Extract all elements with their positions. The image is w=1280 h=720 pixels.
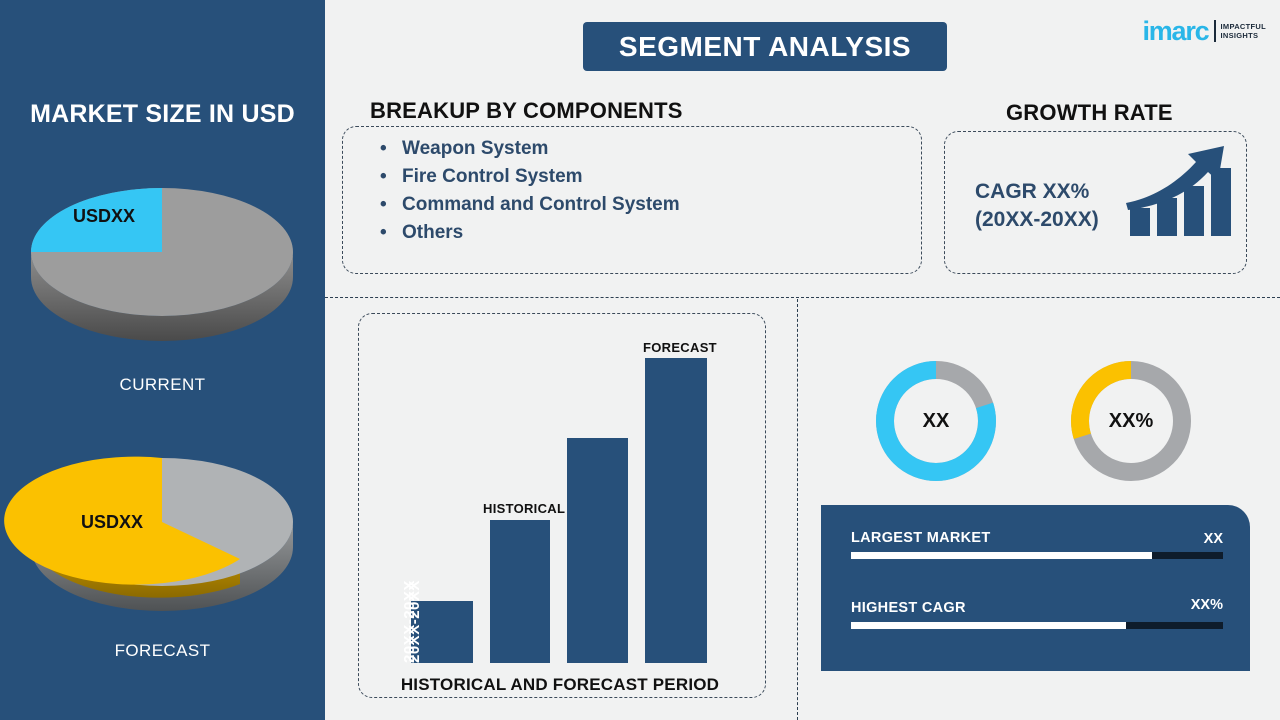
components-title: BREAKUP BY COMPONENTS (370, 98, 683, 124)
pie-forecast-value-label: USDXX (81, 512, 143, 532)
logo-tagline: IMPACTFUL INSIGHTS (1221, 22, 1266, 41)
bullet-icon: • (380, 167, 402, 186)
component-label: Weapon System (402, 138, 548, 160)
stats-panel: LARGEST MARKET XX HIGHEST CAGR XX% (821, 505, 1250, 671)
growth-rate-title: GROWTH RATE (1006, 100, 1173, 126)
pie-current-value-label: USDXX (73, 206, 135, 226)
stat-largest-market-track (851, 552, 1223, 559)
page-title-banner: SEGMENT ANALYSIS (583, 22, 947, 71)
stat-highest-cagr-fill (851, 622, 1126, 629)
logo-tagline-line2: INSIGHTS (1221, 31, 1266, 40)
cagr-text: CAGR XX% (20XX-20XX) (975, 178, 1099, 233)
list-item: • Command and Control System (380, 194, 680, 216)
components-list: • Weapon System • Fire Control System • … (380, 138, 680, 250)
list-item: • Weapon System (380, 138, 680, 160)
donut-1-center: XX (895, 380, 977, 462)
pie-chart-current: USDXX CURRENT (0, 160, 325, 395)
stat-largest-market-fill (851, 552, 1152, 559)
infographic-root: MARKET SIZE IN USD USDXX CURRENT (0, 0, 1280, 720)
bar-4-label: 20XX-20XX (379, 580, 684, 663)
stat-highest-cagr: HIGHEST CAGR XX% (851, 599, 1223, 629)
donut-1-label: XX (923, 410, 950, 433)
list-item: • Others (380, 222, 680, 244)
bullet-icon: • (380, 223, 402, 242)
pie-forecast-svg: USDXX (0, 430, 325, 630)
logo-divider (1214, 20, 1216, 42)
list-item: • Fire Control System (380, 166, 680, 188)
stat-highest-cagr-label: HIGHEST CAGR (851, 600, 966, 616)
logo-tagline-line1: IMPACTFUL (1221, 22, 1266, 31)
highest-cagr-donut: XX% (1071, 361, 1191, 481)
donut-2-label: XX% (1109, 410, 1153, 433)
stat-highest-cagr-track (851, 622, 1223, 629)
cagr-line-1: CAGR XX% (975, 178, 1099, 206)
vertical-divider (797, 299, 798, 720)
sidebar-title: MARKET SIZE IN USD (0, 100, 325, 129)
stat-largest-market-label: LARGEST MARKET (851, 530, 991, 546)
pie-current-caption: CURRENT (0, 375, 325, 395)
component-label: Others (402, 222, 463, 244)
forecast-annotation: FORECAST (643, 340, 717, 355)
historical-annotation: HISTORICAL (483, 501, 565, 516)
bullet-icon: • (380, 139, 402, 158)
component-label: Fire Control System (402, 166, 583, 188)
pie-forecast-caption: FORECAST (0, 641, 325, 661)
pie-chart-forecast: USDXX FORECAST (0, 430, 325, 661)
bar-chart-axis-label: HISTORICAL AND FORECAST PERIOD (325, 675, 795, 695)
imarc-logo: imarc IMPACTFUL INSIGHTS (1142, 14, 1266, 48)
bar-4: 20XX-20XX (645, 358, 707, 663)
growth-arrow-bars-icon (1124, 140, 1234, 245)
cagr-line-2: (20XX-20XX) (975, 206, 1099, 234)
sidebar-market-size: MARKET SIZE IN USD USDXX CURRENT (0, 0, 325, 720)
page-title: SEGMENT ANALYSIS (619, 31, 911, 63)
donut-2-center: XX% (1090, 380, 1172, 462)
component-label: Command and Control System (402, 194, 680, 216)
bullet-icon: • (380, 195, 402, 214)
logo-wordmark: imarc (1142, 18, 1208, 45)
stat-largest-market: LARGEST MARKET XX (851, 529, 1223, 559)
pie-current-svg: USDXX (0, 160, 325, 360)
horizontal-divider (325, 297, 1280, 298)
largest-market-donut: XX (876, 361, 996, 481)
stat-highest-cagr-value: XX% (1191, 597, 1223, 613)
stat-largest-market-value: XX (1204, 531, 1223, 547)
